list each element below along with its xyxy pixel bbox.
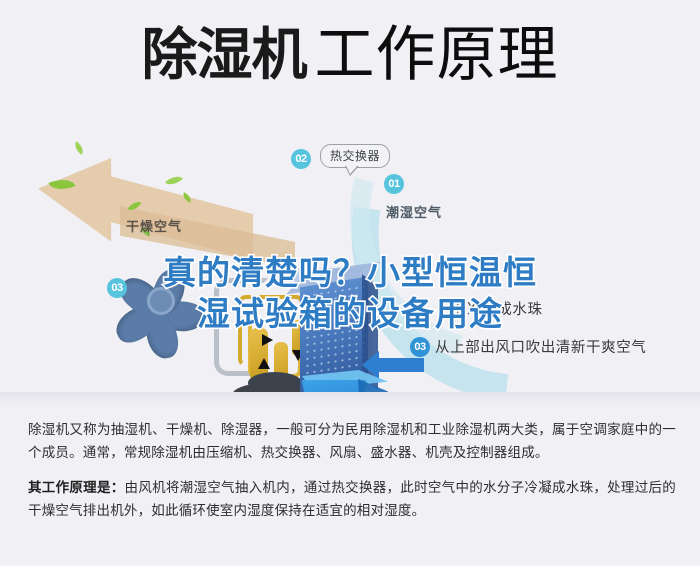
page-title-part2: 工作原理	[315, 21, 559, 88]
overlay-headline-line2: 湿试验箱的设备用途	[0, 293, 700, 334]
article-paragraph-2: 其工作原理是：由风机将潮湿空气抽入机内，通过热交换器，此时空气中的水分子冷凝成水…	[28, 476, 676, 522]
section-divider	[0, 392, 700, 406]
overlay-headline-line1: 真的清楚吗？小型恒温恒	[0, 252, 700, 293]
caption-outlet-row: 03从上部出风口吹出清新干爽空气	[410, 336, 646, 358]
compressor-body-icon	[248, 372, 302, 394]
leaf-icon	[165, 172, 183, 189]
humid-air-inlet-arrow-icon	[378, 358, 424, 372]
dry-air-label: 干燥空气	[126, 216, 182, 235]
page-title: 除湿机工作原理	[0, 22, 700, 88]
humid-air-label: 潮湿空气	[386, 202, 442, 221]
page-root: 除湿机工作原理	[0, 0, 700, 566]
caption-outlet-text: 从上部出风口吹出清新干爽空气	[435, 340, 646, 356]
article-paragraph-2-lead: 其工作原理是：	[28, 480, 125, 495]
article-body: 除湿机又称为抽湿机、干燥机、除湿器，一般可分为民用除湿机和工业除湿机两大类，属于…	[28, 418, 676, 534]
step-badge-03-outlet: 03	[410, 337, 430, 357]
heat-exchanger-bubble-label: 热交换器	[320, 144, 390, 168]
overlay-headline: 真的清楚吗？小型恒温恒 湿试验箱的设备用途	[0, 252, 700, 334]
article-paragraph-1: 除湿机又称为抽湿机、干燥机、除湿器，一般可分为民用除湿机和工业除湿机两大类，属于…	[28, 418, 676, 464]
article-paragraph-2-rest: 由风机将潮湿空气抽入机内，通过热交换器，此时空气中的水分子冷凝成水珠，处理过后的…	[28, 480, 676, 518]
step-badge-01-humid-air: 01	[384, 174, 404, 194]
step-badge-02-heat-exchanger: 02	[291, 149, 311, 169]
leaf-icon	[72, 141, 86, 154]
page-title-part1: 除湿机	[142, 23, 307, 86]
flow-arrow-up-icon	[258, 358, 270, 369]
flow-arrow-right-icon	[262, 334, 273, 346]
